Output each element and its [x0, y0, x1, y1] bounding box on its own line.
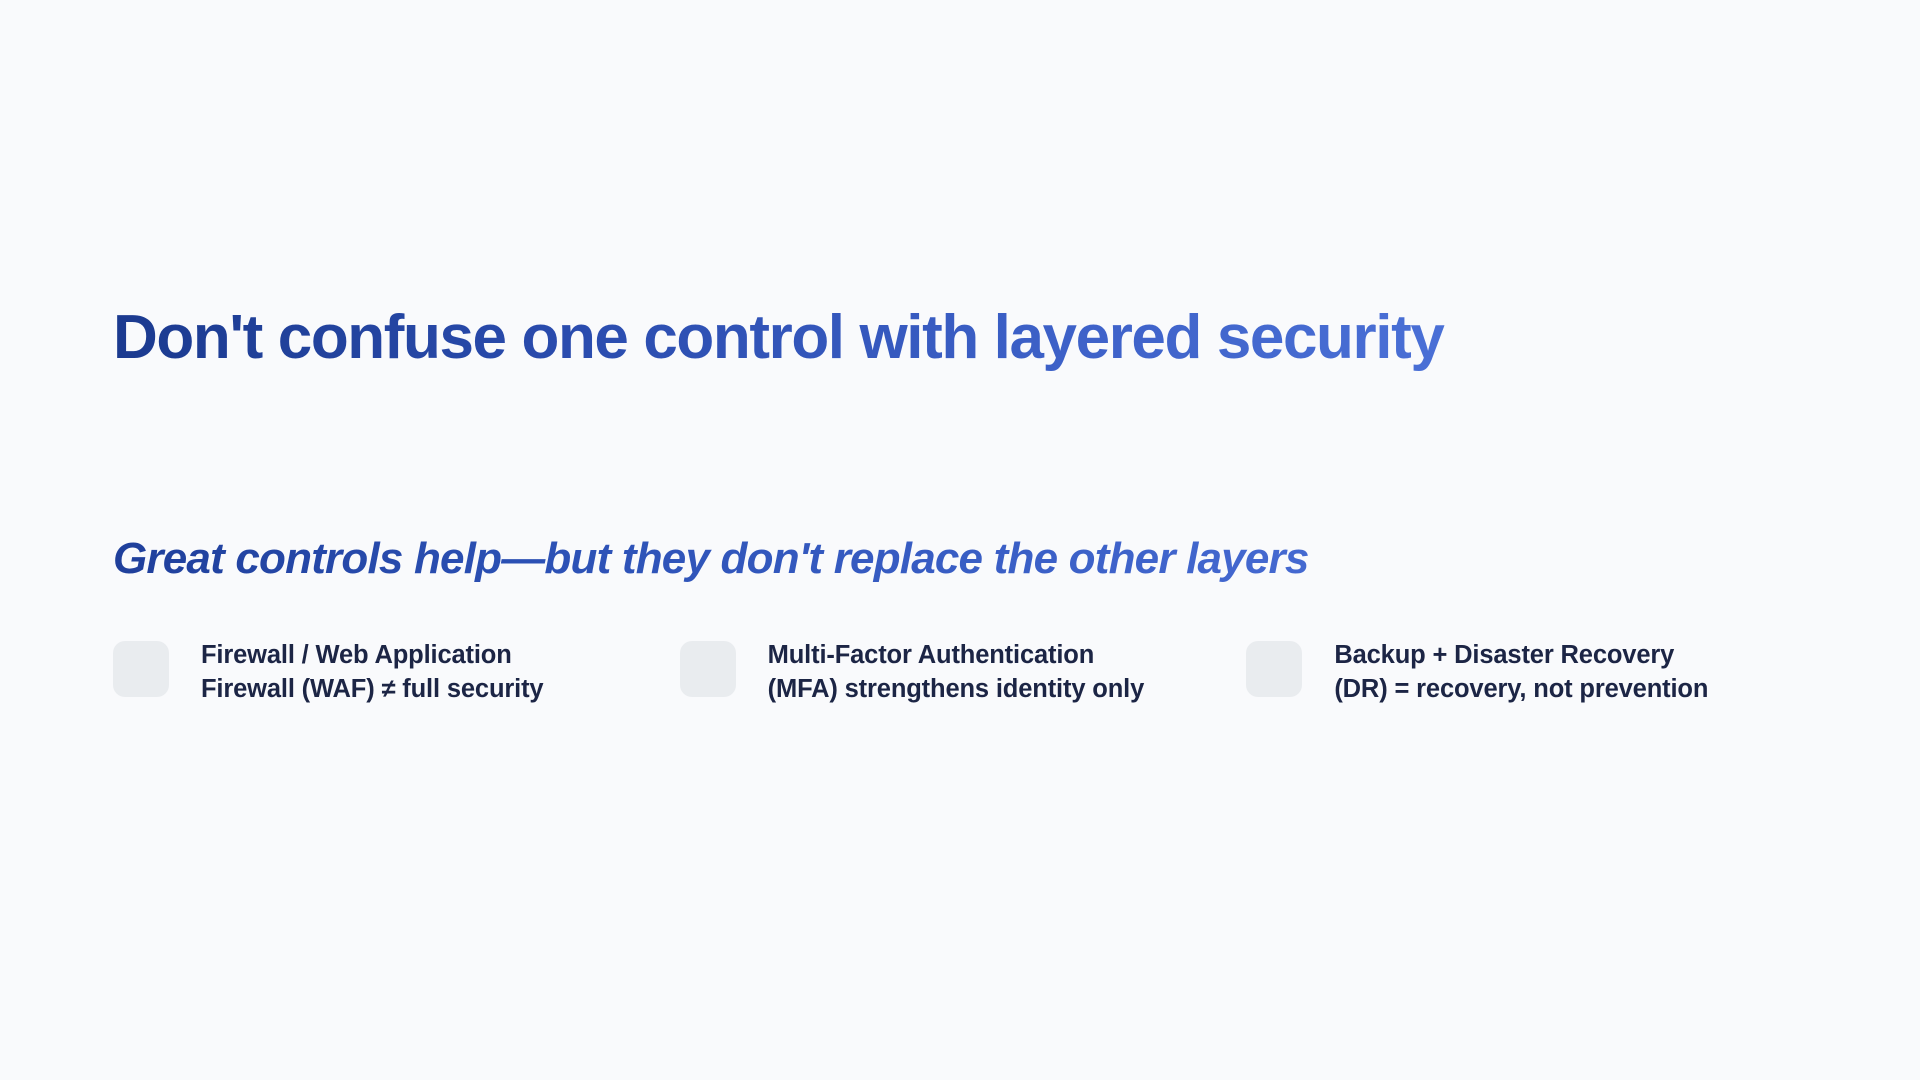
placeholder-square-icon — [113, 641, 169, 697]
key-point-label: Multi-Factor Authentication (MFA) streng… — [768, 639, 1167, 706]
slide-canvas: Don't confuse one control with layered s… — [0, 0, 1920, 1080]
key-point-label: Firewall / Web Application Firewall (WAF… — [201, 639, 600, 706]
placeholder-square-icon — [1246, 641, 1302, 697]
page-title: Don't confuse one control with layered s… — [113, 305, 1753, 372]
placeholder-square-icon — [680, 641, 736, 697]
key-point-label: Backup + Disaster Recovery (DR) = recove… — [1334, 639, 1733, 706]
key-points-grid: Firewall / Web Application Firewall (WAF… — [113, 639, 1813, 706]
key-point-item: Multi-Factor Authentication (MFA) streng… — [680, 639, 1247, 706]
key-point-item: Backup + Disaster Recovery (DR) = recove… — [1246, 639, 1813, 706]
key-point-item: Firewall / Web Application Firewall (WAF… — [113, 639, 680, 706]
slide-content: Don't confuse one control with layered s… — [113, 0, 1813, 1080]
slide-subtitle: Great controls help—but they don't repla… — [113, 535, 1753, 583]
